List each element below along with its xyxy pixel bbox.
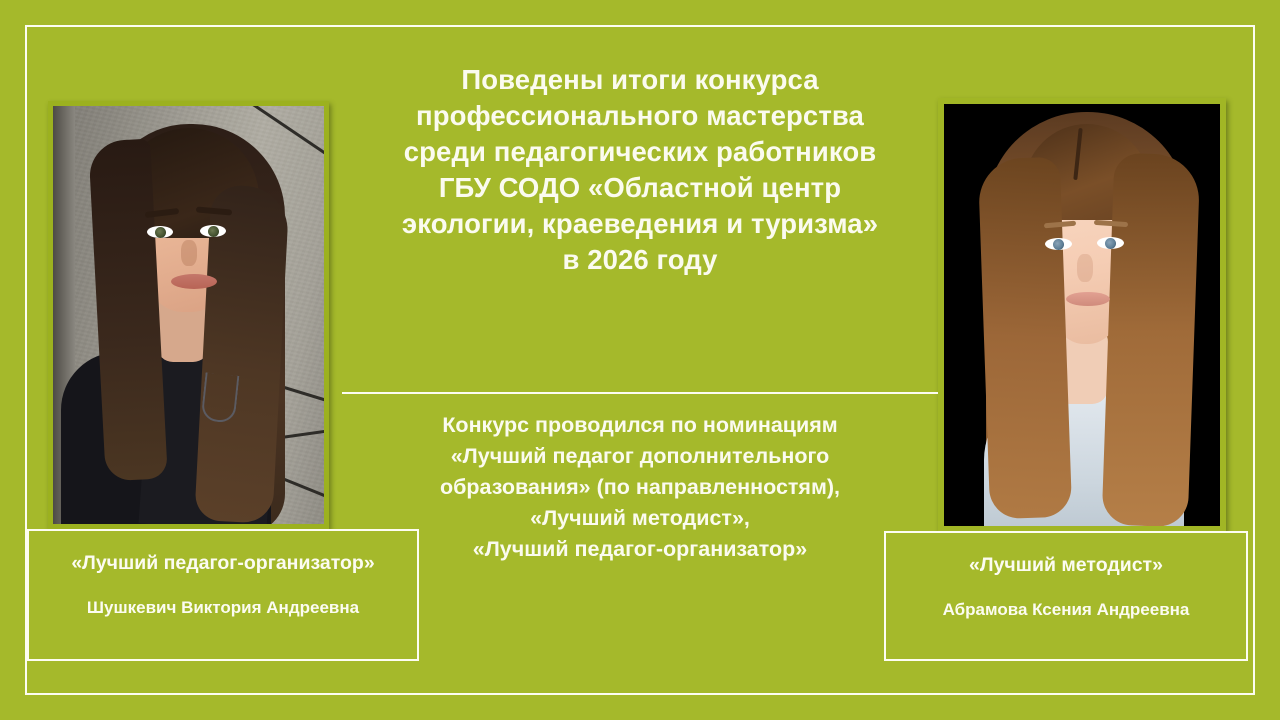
slide-root: Поведены итоги конкурса профессиональног… xyxy=(0,0,1280,720)
winner-nomination-left: «Лучший педагог-организатор» xyxy=(29,551,417,575)
portrait-nose xyxy=(1077,254,1093,282)
portrait-iris xyxy=(155,227,166,238)
portrait-eye-left xyxy=(1045,238,1072,250)
title-subtitle-divider xyxy=(342,392,938,394)
slide-subtitle: Конкурс проводился по номинациям «Лучший… xyxy=(340,410,940,565)
portrait-iris xyxy=(208,226,219,237)
portrait-eye-right xyxy=(200,225,226,237)
slide-title: Поведены итоги конкурса профессиональног… xyxy=(340,62,940,278)
winner-photo-right-image xyxy=(944,104,1220,526)
portrait-lips xyxy=(171,274,217,289)
portrait-hair-right xyxy=(1102,153,1201,526)
winner-nomination-right: «Лучший методист» xyxy=(886,553,1246,577)
winner-photo-left-image xyxy=(53,106,324,524)
winner-name-left: Шушкевич Виктория Андреевна xyxy=(29,597,417,619)
portrait-nose xyxy=(181,240,197,266)
portrait-iris xyxy=(1053,239,1064,250)
portrait-eye-left xyxy=(147,226,173,238)
winner-caption-left: «Лучший педагог-организатор» Шушкевич Ви… xyxy=(27,529,419,661)
center-text-column: Поведены итоги конкурса профессиональног… xyxy=(340,50,940,610)
winner-photo-right xyxy=(938,98,1226,532)
portrait-iris xyxy=(1105,238,1116,249)
winner-photo-left xyxy=(48,101,329,529)
portrait-lips xyxy=(1066,292,1110,306)
portrait-hair-left xyxy=(978,157,1073,520)
portrait-eye-right xyxy=(1097,237,1124,249)
winner-caption-right: «Лучший методист» Абрамова Ксения Андрее… xyxy=(884,531,1248,661)
winner-name-right: Абрамова Ксения Андреевна xyxy=(886,599,1246,621)
